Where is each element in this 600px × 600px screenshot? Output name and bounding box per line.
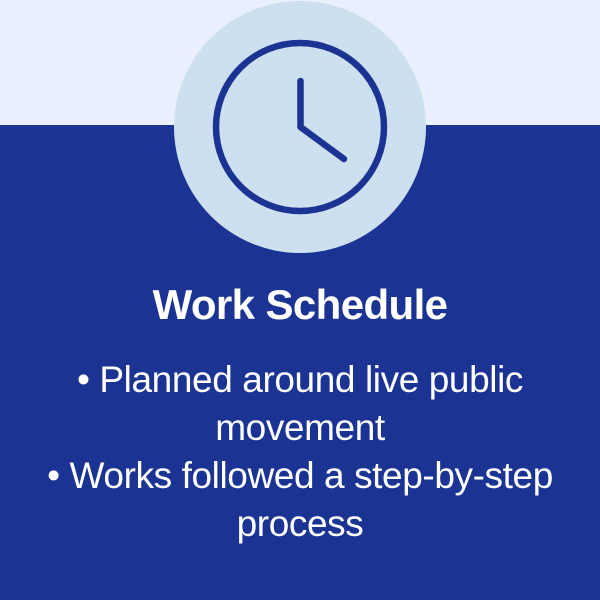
list-item: • Planned around live public movement xyxy=(0,356,600,452)
bullet-list: • Planned around live public movement • … xyxy=(0,356,600,548)
page-title: Work Schedule xyxy=(0,280,600,326)
work-schedule-card: Work Schedule • Planned around live publ… xyxy=(0,0,600,600)
clock-icon xyxy=(174,1,426,253)
list-item: • Works followed a step-by-step process xyxy=(0,452,600,548)
text-block: Work Schedule • Planned around live publ… xyxy=(0,280,600,548)
